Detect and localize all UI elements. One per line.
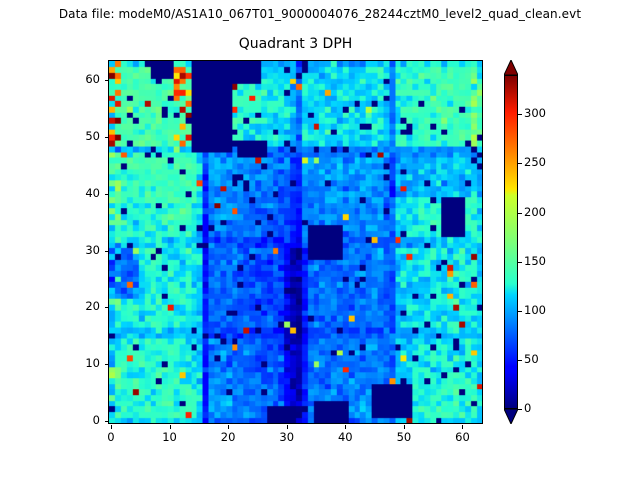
y-tick-mark xyxy=(105,80,109,81)
colorbar-tick-label: 200 xyxy=(524,205,546,219)
x-tick-label: 40 xyxy=(325,430,365,444)
y-tick-mark xyxy=(105,251,109,252)
colorbar-tick-label: 150 xyxy=(524,254,546,268)
x-tick-mark xyxy=(111,425,112,429)
y-tick-label: 20 xyxy=(58,299,100,313)
x-tick-mark xyxy=(462,425,463,429)
x-tick-label: 30 xyxy=(267,430,307,444)
x-tick-mark xyxy=(170,425,171,429)
y-tick-label: 50 xyxy=(58,129,100,143)
colorbar-tick-mark xyxy=(518,262,522,263)
colorbar-tick-mark xyxy=(518,213,522,214)
matplotlib-figure: Data file: modeM0/AS1A10_067T01_90000040… xyxy=(0,0,640,480)
y-tick-label: 60 xyxy=(58,72,100,86)
y-tick-label: 10 xyxy=(58,356,100,370)
colorbar-gradient xyxy=(504,75,518,409)
x-tick-mark xyxy=(287,425,288,429)
colorbar-tick-mark xyxy=(518,311,522,312)
colorbar-tick-mark xyxy=(518,360,522,361)
axes-title: Quadrant 3 DPH xyxy=(108,36,483,52)
y-tick-label: 40 xyxy=(58,186,100,200)
colorbar-tick-mark xyxy=(518,163,522,164)
x-tick-mark xyxy=(345,425,346,429)
colorbar-tick-label: 50 xyxy=(524,352,539,366)
heatmap-axes xyxy=(108,60,483,424)
colorbar-tick-label: 0 xyxy=(524,401,531,415)
y-tick-mark xyxy=(105,421,109,422)
x-tick-mark xyxy=(404,425,405,429)
x-tick-label: 10 xyxy=(150,430,190,444)
colorbar-extend-low-arrow-icon xyxy=(504,409,518,424)
colorbar-tick-mark xyxy=(518,114,522,115)
x-tick-label: 20 xyxy=(208,430,248,444)
colorbar-tick-label: 250 xyxy=(524,155,546,169)
y-tick-mark xyxy=(105,194,109,195)
colorbar-tick-label: 300 xyxy=(524,106,546,120)
colorbar-extend-high-arrow-icon xyxy=(504,60,518,75)
colorbar-tick-mark xyxy=(518,409,522,410)
colorbar-tick-label: 100 xyxy=(524,303,546,317)
y-tick-label: 0 xyxy=(58,413,100,427)
y-tick-mark xyxy=(105,364,109,365)
x-tick-label: 0 xyxy=(91,430,131,444)
y-tick-label: 30 xyxy=(58,243,100,257)
y-tick-mark xyxy=(105,307,109,308)
x-tick-label: 60 xyxy=(442,430,482,444)
heatmap-image xyxy=(109,61,482,423)
y-tick-mark xyxy=(105,137,109,138)
x-tick-label: 50 xyxy=(384,430,424,444)
x-tick-mark xyxy=(228,425,229,429)
figure-suptitle: Data file: modeM0/AS1A10_067T01_90000040… xyxy=(0,7,640,21)
colorbar xyxy=(504,60,518,424)
